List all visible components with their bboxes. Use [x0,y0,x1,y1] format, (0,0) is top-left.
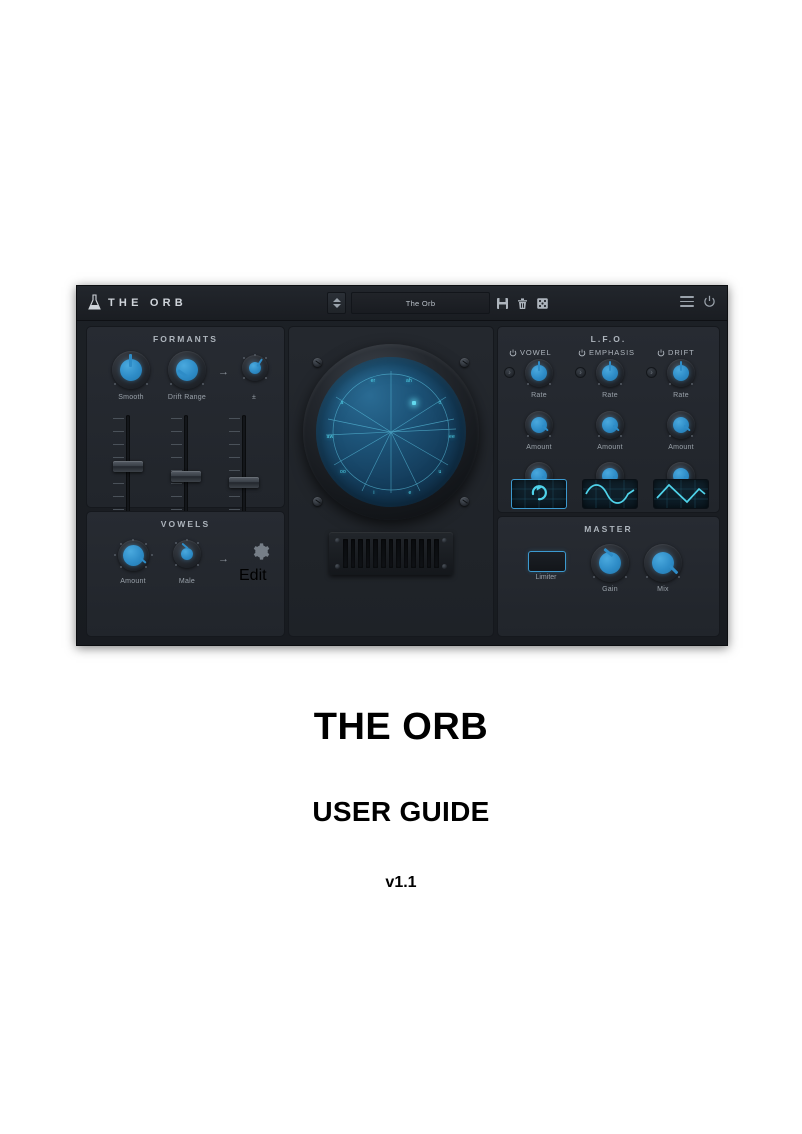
limiter-toggle-button[interactable] [528,551,566,572]
chevron-down-icon[interactable] [333,304,341,308]
knob-lfo-vowel-amount[interactable]: Amount [517,411,561,459]
lfo-emphasis-header[interactable]: EMPHASIS [578,348,635,357]
orb-bezel: er ah a o aw ee oo u i e [303,344,479,520]
gear-icon[interactable] [251,542,270,561]
knob-master-gain-label: Gain [585,586,635,593]
power-icon[interactable] [703,295,716,308]
master-panel: MASTER Limiter Gain Mix [497,516,720,637]
knob-lfo-emphasis-amount-label: Amount [588,444,632,451]
lfo-drift-label: DRIFT [668,348,695,357]
preset-name-field[interactable]: The Orb [351,292,490,314]
knob-smooth-label: Smooth [106,394,156,401]
knob-lfo-drift-amount[interactable]: Amount [659,411,703,459]
power-icon[interactable] [578,349,586,357]
hamburger-menu-icon[interactable] [680,296,694,307]
vowel-label-ah: ah [406,378,412,384]
knob-lfo-drift-amount-label: Amount [659,444,703,451]
formants-arrow-icon: → [218,367,229,378]
random-loop-icon [512,480,566,508]
fader-handle[interactable] [229,477,259,488]
screw-icon [313,497,322,506]
topbar-right-controls [680,295,716,308]
vowels-panel: VOWELS Amount Male [86,511,285,637]
knob-lfo-drift-rate[interactable]: Rate [659,359,703,407]
knob-vowel-male[interactable]: Male [165,540,209,594]
knob-lfo-drift-rate-label: Rate [659,392,703,399]
screw-icon [313,358,322,367]
vent-grille [329,532,453,575]
screw-icon [460,497,469,506]
fader-handle[interactable] [113,461,143,472]
plugin-topbar: THE ORB The Orb [77,286,727,321]
orb-grid [316,357,466,507]
knob-lfo-vowel-rate-label: Rate [517,392,561,399]
knob-lfo-emphasis-rate[interactable]: Rate [588,359,632,407]
vowel-label-ee: ee [449,434,455,440]
vowel-label-er: er [371,378,376,384]
trash-icon[interactable] [515,296,530,311]
document-subtitle: USER GUIDE [0,796,802,828]
vowel-label-e: e [409,490,412,496]
document-title: THE ORB [0,706,802,749]
vowels-edit-button[interactable]: Edit [239,542,281,579]
knob-formant-pm-label: ± [234,394,274,401]
lfo-vowel-header[interactable]: VOWEL [509,348,552,357]
limiter-label: Limiter [518,574,574,581]
screw-icon [460,358,469,367]
vowel-label-oo: oo [340,469,346,475]
knob-vowel-male-label: Male [165,578,209,585]
vowel-xy-pad[interactable]: er ah a o aw ee oo u i e [316,357,466,507]
screw-icon [442,538,447,543]
lfo-title: L.F.O. [498,334,719,344]
sine-wave-icon [583,480,637,508]
knob-drift-range[interactable]: Drift Range [162,351,212,407]
triangle-wave-icon [654,480,708,508]
screw-icon [442,564,447,569]
knob-master-gain[interactable]: Gain [585,544,635,600]
knob-lfo-emphasis-amount[interactable]: Amount [588,411,632,459]
chevron-up-icon[interactable] [333,298,341,302]
knob-smooth[interactable]: Smooth [106,351,156,407]
vowels-edit-label: Edit [239,567,281,585]
knob-drift-range-label: Drift Range [162,394,212,401]
formants-panel: FORMANTS Smooth Drift Range → [86,326,285,508]
brand-name: THE ORB [108,297,187,309]
power-icon[interactable] [509,349,517,357]
lfo-emphasis-waveform-display[interactable] [582,479,638,509]
vent-slats [343,539,439,568]
knob-lfo-vowel-rate[interactable]: Rate [517,359,561,407]
knob-vowel-amount[interactable]: Amount [109,540,157,594]
lfo-drift-waveform-display[interactable] [653,479,709,509]
screw-icon [335,564,340,569]
knob-master-mix[interactable]: Mix [638,544,688,600]
vowels-arrow-icon: → [218,554,229,565]
orb-position-dot[interactable] [412,401,416,405]
preset-browser: The Orb [327,293,550,313]
fader-scale [229,418,240,524]
plugin-window: THE ORB The Orb [76,285,728,646]
knob-master-mix-label: Mix [638,586,688,593]
knob-lfo-emphasis-rate-label: Rate [588,392,632,399]
vowel-label-o: o [439,400,442,406]
vowel-label-a: a [341,400,344,406]
brand-logo: THE ORB [87,294,187,311]
vowels-title: VOWELS [87,519,284,529]
master-title: MASTER [498,524,719,534]
screw-icon [335,538,340,543]
dice-icon[interactable] [535,296,550,311]
preset-stepper[interactable] [327,292,346,314]
vowel-label-i: i [373,490,374,496]
knob-formant-pm[interactable]: ± [234,355,274,407]
document-version: v1.1 [0,874,802,892]
fader-handle[interactable] [171,471,201,482]
flask-icon [87,294,102,311]
lfo-emphasis-label: EMPHASIS [589,348,635,357]
lfo-emphasis-sync-button[interactable]: ♪ [575,367,586,378]
lfo-vowel-label: VOWEL [520,348,552,357]
vowel-label-aw: aw [327,434,334,440]
save-icon[interactable] [495,296,510,311]
knob-lfo-vowel-amount-label: Amount [517,444,561,451]
knob-vowel-amount-label: Amount [109,578,157,585]
vowel-label-u: u [439,469,442,475]
power-icon[interactable] [657,349,665,357]
orb-panel: er ah a o aw ee oo u i e [288,326,494,637]
lfo-drift-header[interactable]: DRIFT [657,348,695,357]
lfo-drift-sync-button[interactable]: ♪ [646,367,657,378]
lfo-vowel-waveform-display[interactable] [511,479,567,509]
formants-title: FORMANTS [87,334,284,344]
lfo-vowel-sync-button[interactable]: ♪ [504,367,515,378]
